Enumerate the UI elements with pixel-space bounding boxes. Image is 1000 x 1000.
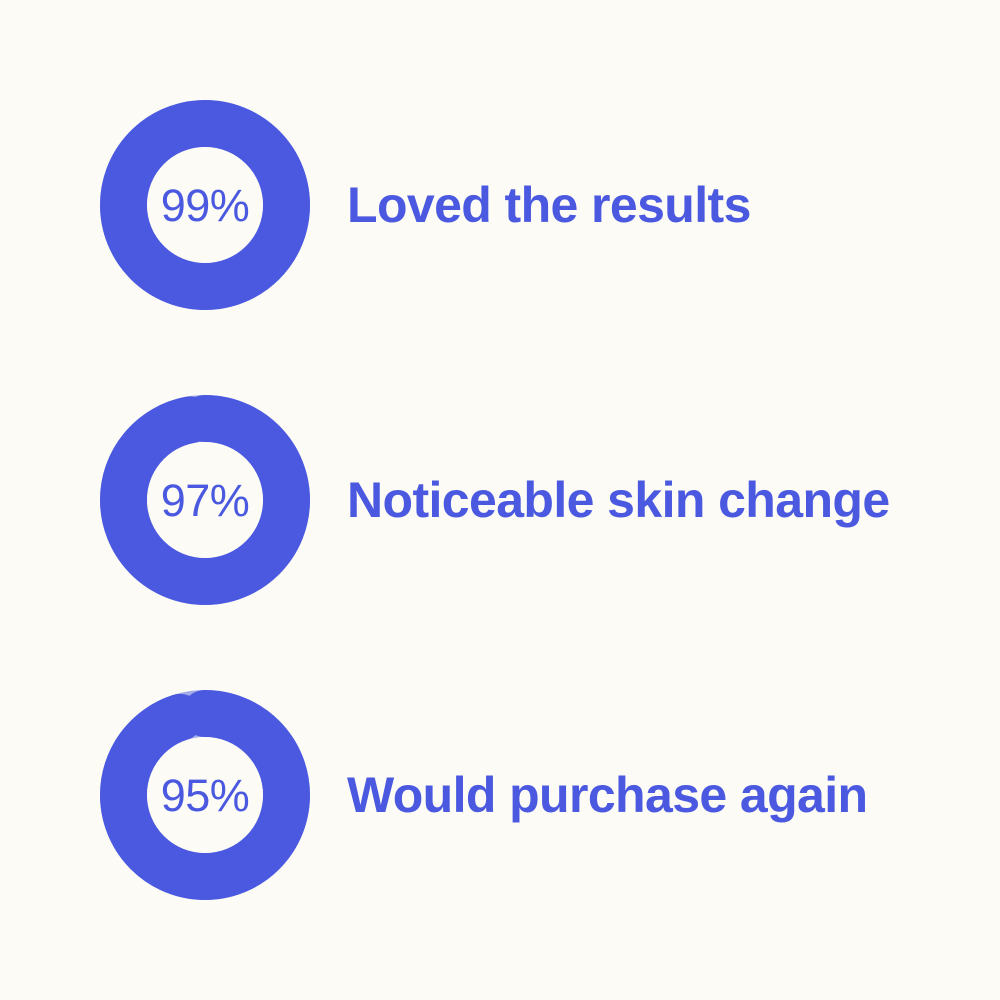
gauge-inner-hole [147,737,263,853]
stat-row: 97% Noticeable skin change [0,395,1000,605]
stat-label: Loved the results [347,178,751,233]
gauge-inner-hole [147,147,263,263]
donut-gauge: 97% [100,395,310,605]
gauge-inner-hole [147,442,263,558]
donut-gauge: 95% [100,690,310,900]
stat-row: 95% Would purchase again [0,690,1000,900]
donut-gauge-chart [100,100,310,310]
donut-gauge-chart [100,395,310,605]
stat-label: Would purchase again [347,768,868,823]
stat-label: Noticeable skin change [347,473,890,528]
stats-board: 99% Loved the results 97% Noticeable ski… [0,0,1000,1000]
stat-row: 99% Loved the results [0,100,1000,310]
donut-gauge: 99% [100,100,310,310]
donut-gauge-chart [100,690,310,900]
